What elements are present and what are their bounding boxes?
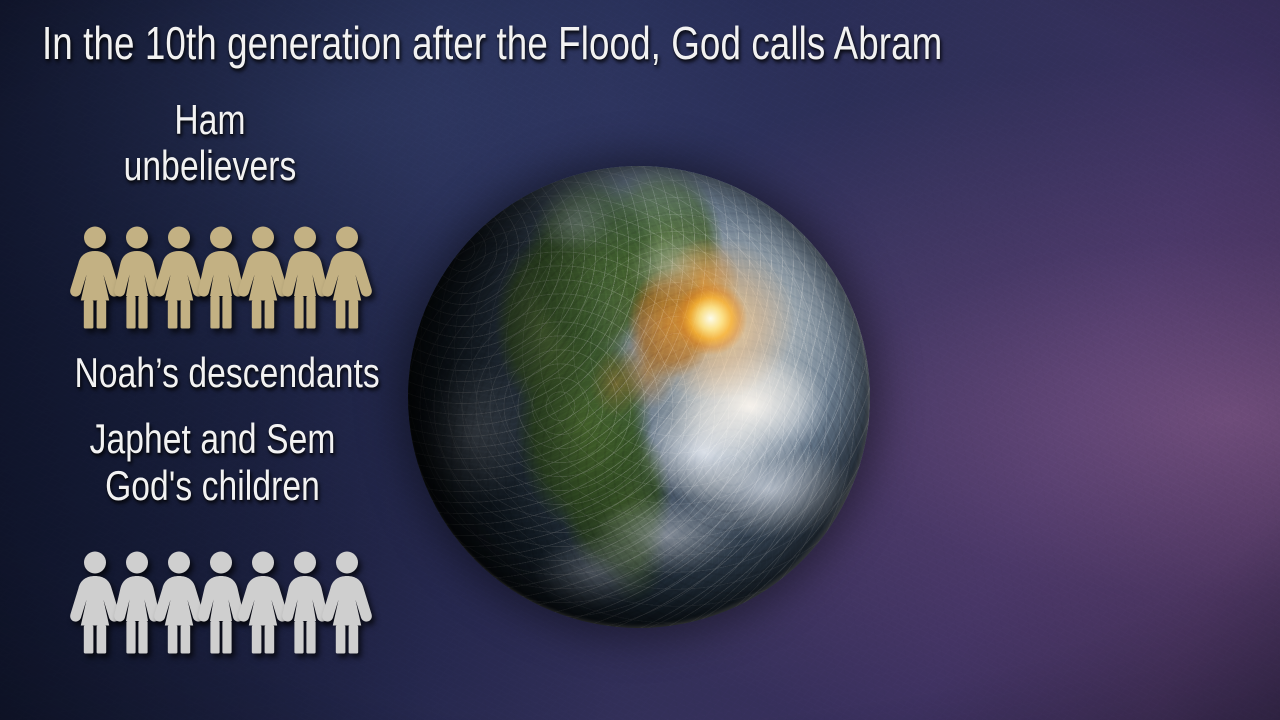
slide-canvas: In the 10th generation after the Flood, … — [0, 0, 1280, 720]
person-figure — [320, 551, 374, 655]
earth-globe — [408, 166, 870, 628]
group-label-gods-children: God's children — [75, 465, 351, 507]
person-figure — [320, 226, 374, 330]
group-label-unbelievers: unbelievers — [74, 145, 346, 187]
group-label-ham: Ham — [74, 99, 346, 141]
page-title: In the 10th generation after the Flood, … — [42, 20, 942, 66]
person-female-icon — [320, 551, 374, 655]
people-group-gods-children — [68, 551, 374, 655]
person-female-icon — [320, 226, 374, 330]
people-group-unbelievers — [68, 226, 374, 330]
group-label-noahs-descendants: Noah’s descendants — [75, 352, 351, 394]
globe-rim-shading — [408, 166, 870, 628]
group-label-japhet-and-sem: Japhet and Sem — [75, 418, 351, 460]
